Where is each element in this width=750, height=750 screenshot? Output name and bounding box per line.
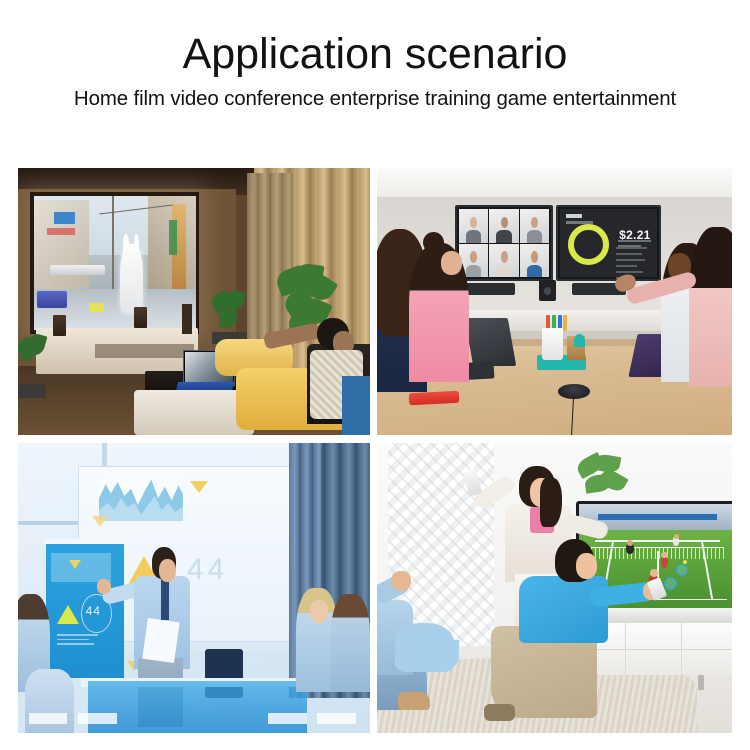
dashboard-screen: $2.21 bbox=[560, 209, 657, 277]
tablet-left bbox=[465, 318, 516, 366]
application-scenario-page: Application scenario Home film video con… bbox=[0, 0, 750, 750]
triangle-marker-2 bbox=[92, 516, 108, 527]
participant-tile bbox=[520, 209, 549, 243]
presenter-hand bbox=[97, 579, 111, 594]
presenter-papers bbox=[142, 618, 179, 663]
document-3 bbox=[317, 713, 356, 725]
anime-car bbox=[89, 303, 104, 312]
page-header: Application scenario Home film video con… bbox=[0, 0, 750, 150]
page-subtitle: Home film video conference enterprise tr… bbox=[0, 86, 750, 112]
participant-tile bbox=[459, 209, 488, 243]
stadium-banner bbox=[598, 514, 718, 520]
boy-face bbox=[576, 553, 597, 579]
flip-chart-triangle-yellow bbox=[57, 605, 79, 624]
scenario-image-grid: $2.21 bbox=[18, 168, 732, 733]
blue-chair bbox=[342, 376, 370, 435]
anime-bus bbox=[37, 291, 66, 308]
scenario-panel-video-conference: $2.21 bbox=[377, 168, 732, 435]
scenario-panel-game-entertainment bbox=[377, 443, 732, 733]
toy-elephant-trunk bbox=[441, 640, 459, 666]
participant-tile bbox=[489, 209, 518, 243]
glass-table bbox=[88, 681, 306, 733]
flip-chart-triangle-small bbox=[69, 560, 81, 569]
presenter-face bbox=[159, 559, 177, 582]
projection-screen bbox=[34, 196, 196, 330]
tennis-net bbox=[591, 547, 723, 559]
pen-yellow bbox=[563, 315, 567, 331]
page-title: Application scenario bbox=[0, 28, 750, 80]
display-video-call bbox=[455, 205, 553, 281]
flip-chart-number: 44 bbox=[86, 604, 101, 618]
plant-small bbox=[18, 334, 46, 398]
speaker-right bbox=[134, 307, 147, 328]
game-player-2-head bbox=[674, 534, 679, 539]
participant-tile bbox=[489, 244, 518, 278]
flip-chart-graph bbox=[51, 553, 111, 582]
flip-chart-text-lines bbox=[57, 634, 103, 648]
donut-chart bbox=[568, 224, 609, 265]
enterprise-training-photo: 44 44 bbox=[18, 443, 370, 733]
console-shelf-gap bbox=[95, 344, 194, 357]
plant-medium bbox=[212, 291, 247, 344]
teal-clip bbox=[574, 334, 585, 347]
scenario-panel-enterprise-training: 44 44 bbox=[18, 443, 370, 733]
floor-speaker bbox=[182, 304, 193, 333]
game-player-3-head bbox=[661, 552, 668, 558]
attendee-right-blonde-face bbox=[310, 600, 328, 623]
seated-person-shoe bbox=[398, 692, 430, 709]
video-conference-photo: $2.21 bbox=[377, 168, 732, 435]
anime-character-ear-right bbox=[134, 234, 139, 252]
boy-foot bbox=[484, 704, 516, 721]
speaker-left bbox=[53, 315, 66, 336]
plant-pot-small bbox=[18, 384, 46, 398]
tennis-ball bbox=[683, 560, 687, 564]
anime-sign-red bbox=[47, 228, 75, 235]
document-1 bbox=[29, 713, 68, 725]
presenter-tie bbox=[161, 579, 169, 620]
game-player-4-head bbox=[650, 569, 658, 576]
soundbar-left bbox=[462, 283, 515, 295]
attendee-pink-face bbox=[441, 251, 462, 275]
pen-cup bbox=[542, 328, 563, 360]
seated-person-fist bbox=[391, 571, 411, 591]
home-cinema-photo bbox=[18, 168, 370, 435]
woman-hair bbox=[540, 478, 561, 527]
cabinet-divider-1 bbox=[681, 623, 682, 675]
ceiling bbox=[377, 168, 732, 200]
flip-chart-top-bar bbox=[43, 539, 127, 545]
video-call-grid bbox=[459, 209, 549, 277]
document-2 bbox=[78, 713, 117, 725]
boy-shirt-blue bbox=[519, 576, 608, 643]
triangle-marker-1 bbox=[190, 481, 208, 493]
cabinet-leg-right bbox=[698, 675, 703, 690]
anime-sign-blue bbox=[54, 212, 75, 224]
anime-train bbox=[50, 265, 105, 274]
display-dashboard: $2.21 bbox=[556, 205, 661, 281]
area-chart-svg bbox=[99, 475, 183, 521]
anime-sign-green bbox=[169, 220, 177, 255]
overlay-number-large: 44 bbox=[187, 553, 228, 587]
attendee-right-2 bbox=[331, 594, 370, 693]
conference-speakerphone[interactable] bbox=[558, 384, 590, 399]
area-chart-overlay bbox=[99, 475, 183, 521]
game-racket-1 bbox=[676, 564, 687, 576]
document-4 bbox=[268, 713, 307, 725]
dashboard-header bbox=[566, 214, 609, 224]
anime-character-ear-left bbox=[123, 234, 128, 252]
cabinet-divider-2 bbox=[625, 623, 626, 675]
game-racket-2 bbox=[664, 577, 677, 590]
attendee-pointing bbox=[689, 227, 732, 387]
scenario-panel-home-cinema bbox=[18, 168, 370, 435]
game-player-1-head bbox=[627, 540, 633, 545]
game-entertainment-photo bbox=[377, 443, 732, 733]
participant-tile bbox=[520, 244, 549, 278]
anime-character bbox=[120, 244, 143, 313]
tv-base bbox=[597, 608, 732, 623]
